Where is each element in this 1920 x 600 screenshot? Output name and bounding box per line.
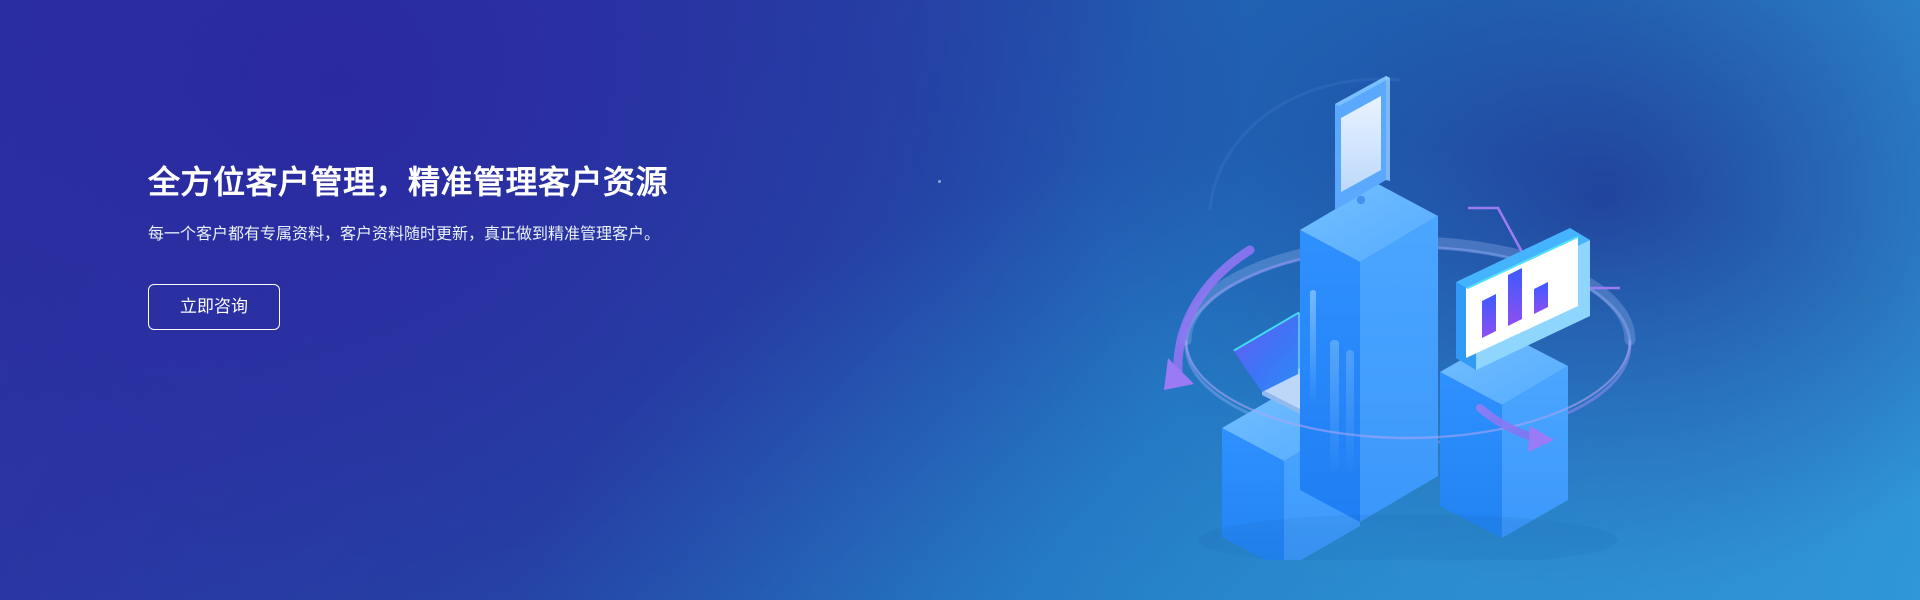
cta-container: 立即咨询 (148, 284, 788, 330)
hero-banner: 全方位客户管理，精准管理客户资源 每一个客户都有专属资料，客户资料随时更新，真正… (0, 0, 1920, 600)
hero-illustration (1150, 40, 1670, 560)
hero-subtitle: 每一个客户都有专属资料，客户资料随时更新，真正做到精准管理客户。 (148, 222, 748, 248)
sparkle-dot-icon (938, 180, 941, 183)
hero-copy-block: 全方位客户管理，精准管理客户资源 每一个客户都有专属资料，客户资料随时更新，真正… (148, 160, 788, 330)
center-pillar (1300, 184, 1438, 522)
arrow-left-down-icon (1164, 250, 1250, 390)
page-title: 全方位客户管理，精准管理客户资源 (148, 160, 788, 204)
consult-now-button[interactable]: 立即咨询 (148, 284, 280, 330)
